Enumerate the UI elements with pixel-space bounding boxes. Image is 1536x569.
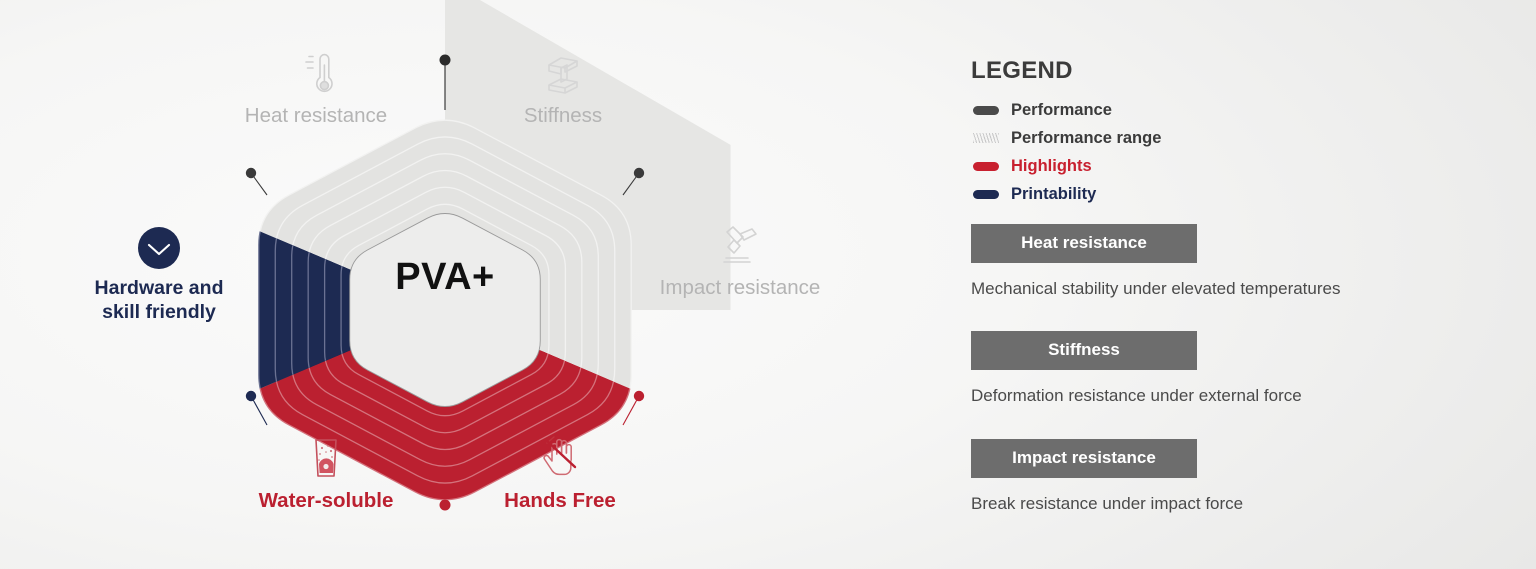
definition-card-stiffness-title: Stiffness (971, 331, 1197, 370)
radar-diagram-panel: PVA+ Heat resistance (0, 0, 900, 569)
legend-swatch-highlights-icon (973, 162, 999, 171)
legend-item-printability: Printability (971, 180, 1401, 208)
hammer-icon (717, 223, 763, 269)
axis-label-hardware-skill-friendly[interactable]: Hardware and skill friendly (60, 276, 258, 325)
center-material-text: PVA+ (395, 256, 495, 298)
axis-label-hands-free-text: Hands Free (473, 489, 647, 513)
legend-swatch-printability-icon (973, 190, 999, 199)
spoke-lower-right-endpoint-dot (634, 391, 644, 401)
spoke-top-endpoint-dot (440, 55, 451, 66)
definition-card-stiffness: Stiffness Deformation resistance under e… (971, 331, 1491, 406)
legend-item-performance-range: Performance range (971, 124, 1401, 152)
spoke-lower-left-endpoint-dot (246, 391, 256, 401)
legend-label-highlights: Highlights (1011, 157, 1092, 176)
axis-label-impact-resistance[interactable]: Impact resistance (632, 276, 848, 300)
axis-label-hardware-line1: Hardware and (60, 276, 258, 300)
axis-label-heat-resistance[interactable]: Heat resistance (216, 104, 416, 128)
i-beam-icon (541, 53, 585, 97)
thermometer-icon (296, 53, 336, 97)
legend-label-performance: Performance (1011, 101, 1112, 120)
axis-label-stiffness[interactable]: Stiffness (478, 104, 648, 128)
definition-card-heat-resistance-description: Mechanical stability under elevated temp… (971, 279, 1491, 299)
definition-card-impact-resistance: Impact resistance Break resistance under… (971, 439, 1491, 514)
legend-label-performance-range: Performance range (1011, 129, 1161, 148)
axis-label-stiffness-text: Stiffness (478, 104, 648, 128)
definition-card-heat-resistance: Heat resistance Mechanical stability und… (971, 224, 1491, 299)
center-material-label: PVA+ (345, 256, 545, 299)
spoke-bottom-endpoint-dot (440, 500, 451, 511)
legend-panel: LEGEND Performance Performance range Hig… (971, 0, 1531, 569)
legend-label-printability: Printability (1011, 185, 1096, 204)
definition-card-heat-resistance-title: Heat resistance (971, 224, 1197, 263)
legend-key-list: Performance Performance range Highlights… (971, 96, 1401, 208)
definition-card-stiffness-description: Deformation resistance under external fo… (971, 386, 1491, 406)
axis-label-hardware-line2: skill friendly (60, 300, 258, 324)
spoke-upper-right-endpoint-dot (634, 168, 644, 178)
legend-title: LEGEND (971, 57, 1073, 85)
axis-label-hands-free[interactable]: Hands Free (473, 489, 647, 513)
axis-label-water-soluble[interactable]: Water-soluble (233, 489, 419, 513)
legend-swatch-performance-range-icon (973, 133, 999, 143)
axis-label-heat-resistance-text: Heat resistance (216, 104, 416, 128)
dissolving-glass-icon (307, 435, 345, 481)
legend-item-performance: Performance (971, 96, 1401, 124)
definition-card-impact-resistance-description: Break resistance under impact force (971, 494, 1491, 514)
spoke-upper-left-endpoint-dot (246, 168, 256, 178)
definition-card-impact-resistance-title: Impact resistance (971, 439, 1197, 478)
axis-label-impact-resistance-text: Impact resistance (632, 276, 848, 300)
no-hands-icon (538, 433, 582, 481)
check-circle-icon (137, 226, 181, 270)
legend-item-highlights: Highlights (971, 152, 1401, 180)
axis-label-water-soluble-text: Water-soluble (233, 489, 419, 513)
legend-swatch-performance-icon (973, 106, 999, 115)
